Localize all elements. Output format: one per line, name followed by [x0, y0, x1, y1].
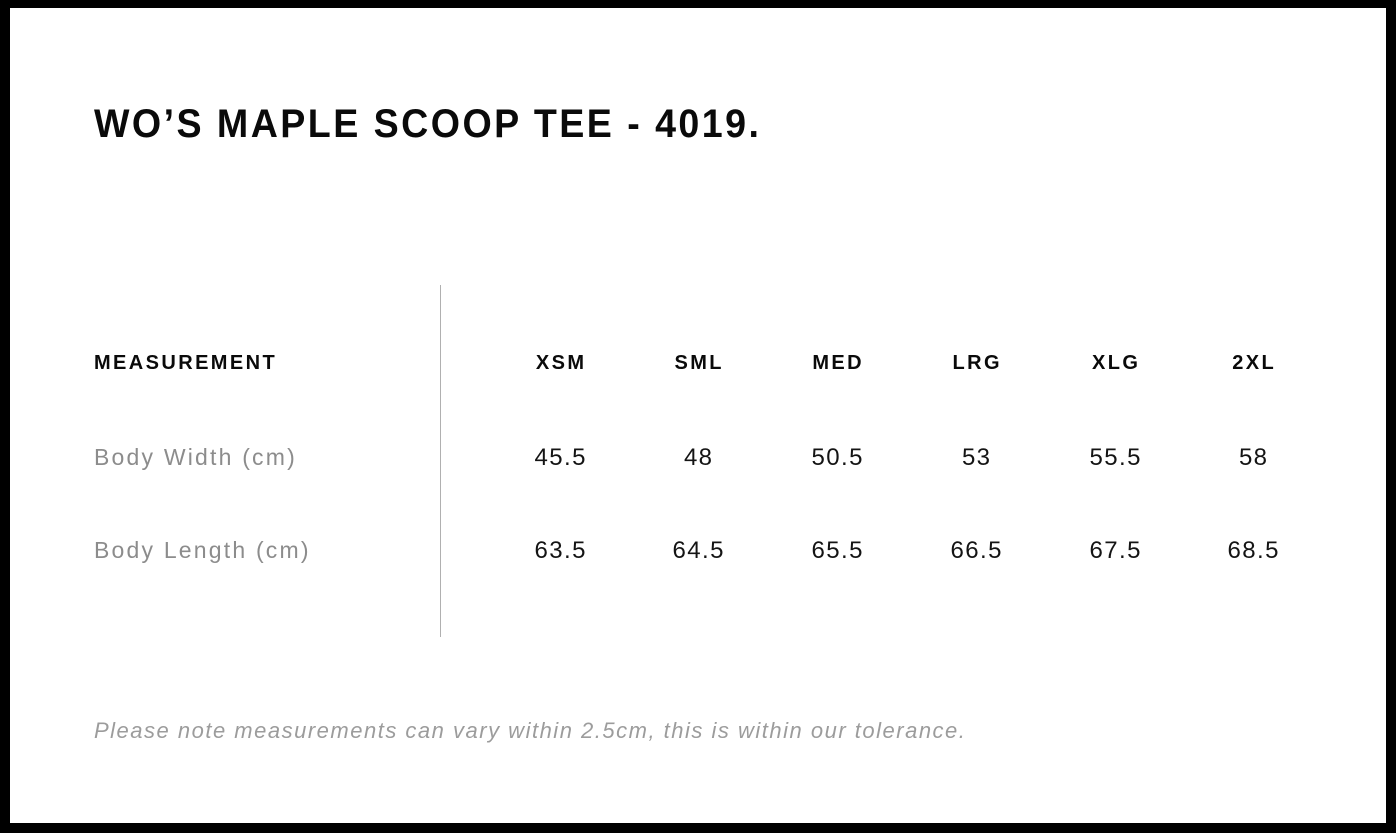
cell-body-length-med: 65.5: [772, 537, 902, 565]
row-label-body-width: Body Width (cm): [94, 444, 297, 471]
cell-body-width-xlg: 55.5: [1050, 444, 1180, 472]
page-frame: WO’S MAPLE SCOOP TEE - 4019. MEASUREMENT…: [0, 0, 1396, 833]
tolerance-note: Please note measurements can vary within…: [94, 718, 966, 744]
column-header-2xl: 2XL: [1188, 352, 1318, 375]
cell-body-length-xlg: 67.5: [1050, 537, 1180, 565]
cell-body-width-sml: 48: [633, 444, 763, 472]
cell-body-length-lrg: 66.5: [911, 537, 1041, 565]
cell-body-length-2xl: 68.5: [1188, 537, 1318, 565]
column-header-med: MED: [772, 352, 902, 375]
cell-body-width-2xl: 58: [1188, 444, 1318, 472]
column-header-xsm: XSM: [495, 352, 625, 375]
column-header-sml: SML: [633, 352, 763, 375]
cell-body-width-xsm: 45.5: [495, 444, 625, 472]
row-label-body-length: Body Length (cm): [94, 537, 311, 564]
column-header-lrg: LRG: [911, 352, 1041, 375]
size-chart-table: MEASUREMENT XSM SML MED LRG XLG 2XL Body…: [10, 8, 1386, 823]
cell-body-length-sml: 64.5: [633, 537, 763, 565]
column-header-xlg: XLG: [1050, 352, 1180, 375]
cell-body-width-lrg: 53: [911, 444, 1041, 472]
column-header-measurement: MEASUREMENT: [94, 352, 277, 375]
size-chart-card: WO’S MAPLE SCOOP TEE - 4019. MEASUREMENT…: [10, 8, 1386, 823]
cell-body-length-xsm: 63.5: [495, 537, 625, 565]
cell-body-width-med: 50.5: [772, 444, 902, 472]
table-vertical-divider: [440, 285, 441, 637]
